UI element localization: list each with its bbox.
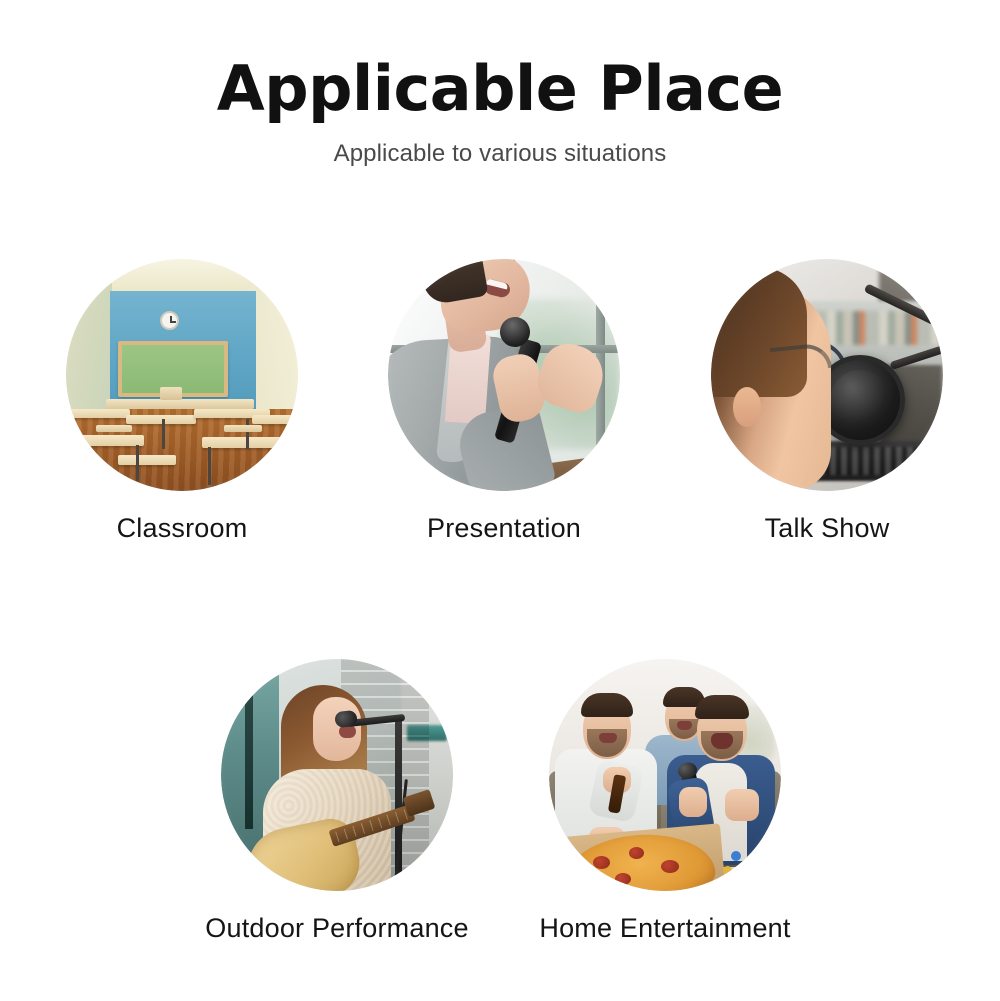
snack-candy: [745, 861, 755, 871]
person-left-hair: [581, 693, 633, 717]
home-entertainment-photo: [549, 659, 781, 891]
person-right-hand-holding-mic: [679, 787, 707, 817]
outdoor-performance-photo: [221, 659, 453, 891]
scenario-card-classroom: Classroom: [66, 259, 298, 544]
student-desk: [66, 409, 130, 418]
scenario-image-outdoor-performance: [221, 659, 453, 891]
page-header: Applicable Place Applicable to various s…: [0, 0, 1000, 168]
student-desk: [118, 455, 176, 465]
scenario-label-classroom: Classroom: [66, 513, 298, 544]
teacher-desk: [106, 399, 254, 409]
scenario-image-wrap-presentation: [388, 259, 620, 491]
host-hair: [711, 267, 807, 397]
desk-leg: [246, 419, 249, 449]
scenario-image-talk-show: [711, 259, 943, 491]
scenario-image-classroom: [66, 259, 298, 491]
scenario-image-presentation: [388, 259, 620, 491]
scenario-image-wrap-home-entertainment: [549, 659, 781, 891]
desk-leg: [278, 447, 281, 485]
snack-candy: [723, 866, 732, 875]
scenario-image-wrap-classroom: [66, 259, 298, 491]
scenario-label-presentation: Presentation: [388, 513, 620, 544]
scenario-image-home-entertainment: [549, 659, 781, 891]
person-right-hand-on-chest: [725, 789, 759, 821]
person-right-hair: [695, 695, 749, 719]
scenario-card-presentation: Presentation: [388, 259, 620, 544]
pepperoni: [629, 847, 644, 859]
scenario-label-talk-show: Talk Show: [711, 513, 943, 544]
scenario-image-wrap-talk-show: [711, 259, 943, 491]
snack-candy: [731, 851, 741, 861]
desk-leg: [208, 447, 211, 485]
talk-show-photo: [711, 259, 943, 491]
scenario-image-wrap-outdoor-performance: [221, 659, 453, 891]
scenario-label-home-entertainment: Home Entertainment: [495, 913, 835, 944]
scenario-card-outdoor-performance: Outdoor Performance: [167, 659, 507, 944]
pepperoni: [615, 873, 631, 885]
classroom-chair: [224, 425, 262, 432]
desk-leg: [76, 445, 79, 481]
student-desk: [126, 415, 196, 424]
pepperoni: [593, 856, 610, 869]
desk-leg: [136, 445, 139, 481]
page-subtitle: Applicable to various situations: [0, 122, 1000, 168]
scenario-card-home-entertainment: Home Entertainment: [495, 659, 835, 944]
page-title: Applicable Place: [0, 0, 1000, 122]
student-desk: [252, 415, 298, 424]
desk-leg: [162, 419, 165, 449]
person-right-open-mouth: [711, 733, 733, 749]
desk-monitor: [160, 387, 182, 400]
scenario-card-talk-show: Talk Show: [711, 259, 943, 544]
metal-railing: [245, 679, 253, 829]
presentation-photo: [388, 259, 620, 491]
scenario-label-outdoor-performance: Outdoor Performance: [167, 913, 507, 944]
classroom-photo: [66, 259, 298, 491]
person-back-mouth: [677, 721, 692, 730]
host-ear: [733, 387, 761, 427]
classroom-chair: [96, 425, 132, 432]
pepperoni: [661, 860, 679, 873]
snack-candy: [739, 874, 748, 883]
student-desk: [202, 437, 298, 448]
wall-clock-icon: [160, 311, 179, 330]
person-left-mouth: [599, 733, 617, 743]
